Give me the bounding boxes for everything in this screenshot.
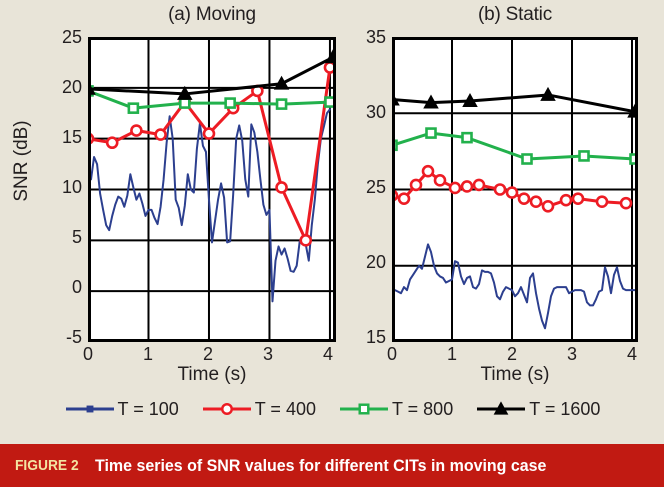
panel-b-xtick-0: 0 [377, 344, 407, 365]
panel-a-ytick-25: 25 [34, 27, 82, 48]
panel-a-xtick-2: 2 [193, 344, 223, 365]
legend-label-t1600: T = 1600 [529, 399, 600, 420]
panel-b-xtick-3: 3 [557, 344, 587, 365]
legend-swatch-t1600 [475, 400, 527, 418]
panel-a-ytick-10: 10 [34, 177, 82, 198]
legend-item-t1600[interactable]: T = 1600 [475, 399, 600, 420]
panel-a-xtick-3: 3 [253, 344, 283, 365]
panel-b-xtick-4: 4 [617, 344, 647, 365]
plot-area-static [392, 37, 638, 342]
panel-b-ytick-25: 25 [338, 177, 386, 198]
panel-a-ytick-5: 5 [34, 227, 82, 248]
figure-caption-text: Time series of SNR values for different … [95, 456, 546, 476]
panel-a-xtick-1: 1 [133, 344, 163, 365]
panel-a-ytick-0: 0 [34, 277, 82, 298]
legend-label-t400: T = 400 [255, 399, 316, 420]
panel-b-title: (b) Static [392, 4, 638, 26]
figure-caption-bar: FIGURE 2 Time series of SNR values for d… [0, 444, 664, 487]
plot-area-moving [88, 37, 336, 342]
panel-a-title: (a) Moving [88, 4, 336, 26]
panel-a-ytick-20: 20 [34, 77, 82, 98]
legend-label-t800: T = 800 [392, 399, 453, 420]
panel-b-xtick-2: 2 [497, 344, 527, 365]
legend-item-t400[interactable]: T = 400 [201, 399, 316, 420]
panel-b-xlabel: Time (s) [392, 364, 638, 386]
panel-b-ytick-20: 20 [338, 252, 386, 273]
legend-swatch-t400 [201, 400, 253, 418]
legend-label-t100: T = 100 [118, 399, 179, 420]
panel-b-ytick-30: 30 [338, 102, 386, 123]
panel-a-ytick-15: 15 [34, 127, 82, 148]
figure-number-tag: FIGURE 2 [15, 457, 79, 474]
panel-a-xlabel: Time (s) [88, 364, 336, 386]
legend-item-t800[interactable]: T = 800 [338, 399, 453, 420]
panel-b-ytick-35: 35 [338, 27, 386, 48]
panel-a-xtick-0: 0 [73, 344, 103, 365]
legend-swatch-t800 [338, 400, 390, 418]
panel-b-xtick-1: 1 [437, 344, 467, 365]
figure-root: (a) Moving SNR (dB) Time (s) 25 20 15 10… [0, 0, 664, 487]
chart-panels: (a) Moving SNR (dB) Time (s) 25 20 15 10… [0, 0, 664, 390]
panel-a-ylabel: SNR (dB) [11, 101, 33, 221]
chart-legend: T = 100 T = 400 T = 800 T = 1600 [0, 392, 664, 426]
legend-item-t100[interactable]: T = 100 [64, 399, 179, 420]
caption-top-strip [0, 437, 664, 444]
legend-swatch-t100 [64, 400, 116, 418]
